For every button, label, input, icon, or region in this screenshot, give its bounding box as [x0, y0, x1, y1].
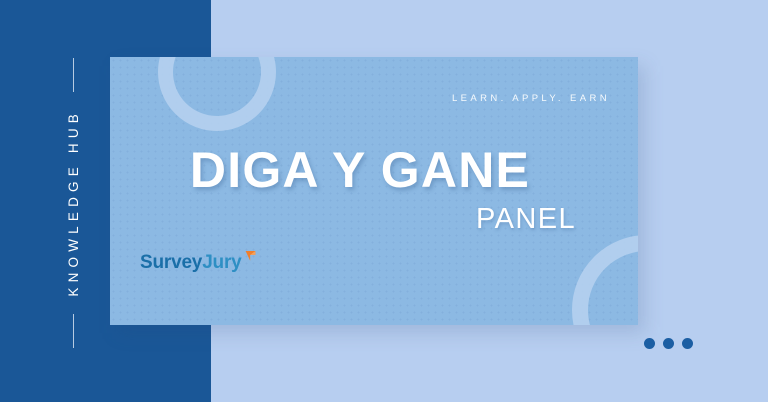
- decorative-ring-top-left: [158, 57, 276, 131]
- card-subheadline: PANEL: [476, 205, 576, 234]
- slide-canvas: KNOWLEDGE HUB LEARN. APPLY. EARN DIGA Y …: [0, 0, 768, 402]
- card-tagline: LEARN. APPLY. EARN: [452, 93, 610, 104]
- surveyjury-logo: Survey Jury: [140, 253, 256, 272]
- card-headline: DIGA Y GANE: [110, 145, 610, 195]
- decorative-ring-bottom-right: [572, 235, 638, 325]
- decorative-dot: [663, 338, 674, 349]
- rule-top: [73, 58, 74, 92]
- decorative-dot: [644, 338, 655, 349]
- logo-word-survey: Survey: [140, 253, 202, 272]
- knowledge-hub-label: KNOWLEDGE HUB: [66, 109, 81, 297]
- rule-bottom: [73, 314, 74, 348]
- decorative-dot-group: [644, 338, 693, 349]
- decorative-dot: [682, 338, 693, 349]
- logo-word-jury: Jury: [202, 253, 241, 272]
- arrow-flag-mark-icon: [243, 249, 256, 262]
- knowledge-hub-lockup: KNOWLEDGE HUB: [52, 58, 94, 348]
- promo-card: LEARN. APPLY. EARN DIGA Y GANE PANEL Sur…: [110, 57, 638, 325]
